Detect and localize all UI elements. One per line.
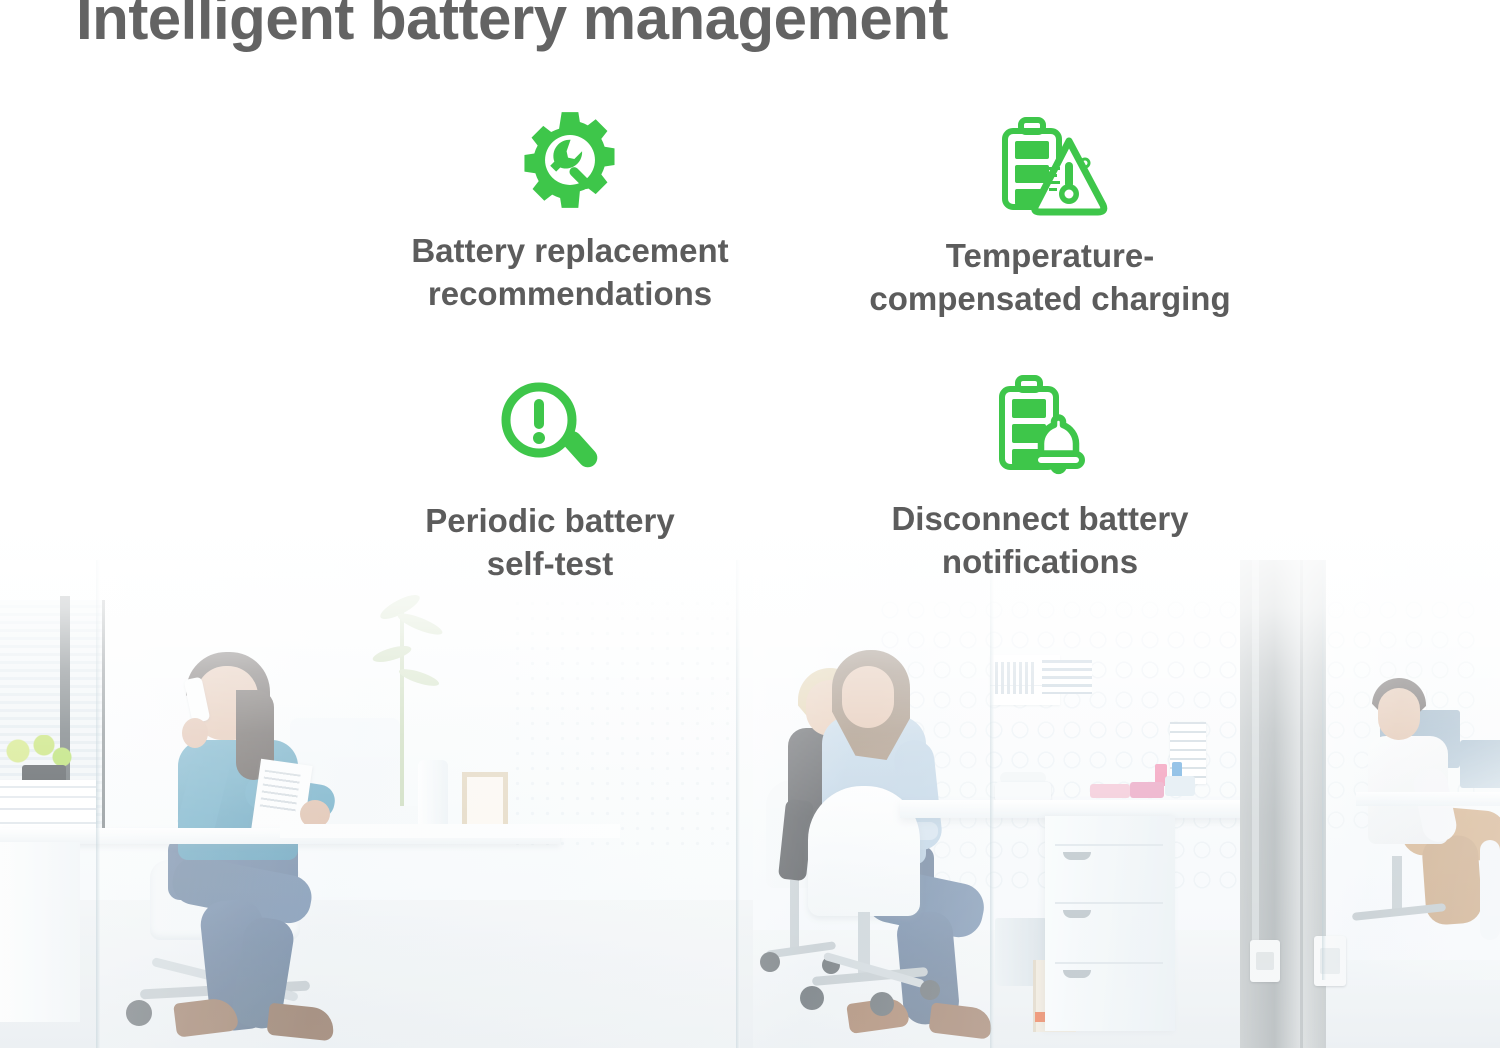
battery-bell-icon xyxy=(730,368,1350,480)
battery-thermometer-warning-icon xyxy=(740,105,1360,217)
feature-label-line2: notifications xyxy=(730,541,1350,584)
slide-canvas: Intelligent battery management xyxy=(0,0,1500,1048)
feature-item-temperature-charging: Temperature- compensated charging xyxy=(740,105,1360,321)
feature-label-line2: compensated charging xyxy=(740,278,1360,321)
page-title: Intelligent battery management xyxy=(76,0,948,50)
feature-label: Disconnect battery notifications xyxy=(730,498,1350,584)
feature-label-line1: Temperature- xyxy=(740,235,1360,278)
feature-label: Temperature- compensated charging xyxy=(740,235,1360,321)
slide-content: Intelligent battery management xyxy=(0,0,1500,1048)
feature-label-line1: Disconnect battery xyxy=(730,498,1350,541)
feature-item-disconnect-notifications: Disconnect battery notifications xyxy=(730,368,1350,584)
